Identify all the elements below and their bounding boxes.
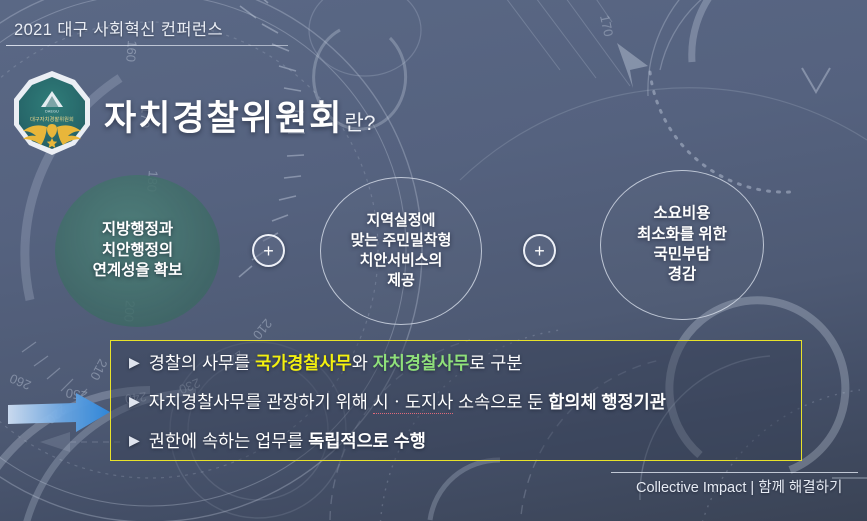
concept-line: 치안행정의 — [93, 241, 183, 261]
svg-text:170: 170 — [597, 14, 616, 38]
concept-line: 경감 — [637, 265, 727, 285]
bullet-marker-icon: ▶ — [129, 355, 140, 369]
bullet-segment-plain: 소속으로 둔 — [453, 392, 548, 412]
concept-line: 지역실정에 — [351, 211, 452, 231]
slide-canvas: 160 170 180 190 200 210 220 210 220 230 … — [0, 0, 867, 521]
concept-line: 소요비용 — [637, 204, 727, 224]
plus-connector-2: + — [523, 234, 556, 267]
bullet-item: ▶ 경찰의 사무를 국가경찰사무와 자치경찰사무로 구분 — [129, 350, 522, 375]
concept-line: 국민부담 — [637, 245, 727, 265]
bullet-segment-yellow: 국가경찰사무 — [255, 353, 352, 373]
daegu-police-committee-emblem-icon: DAEGU 대구자치경찰위원회 — [9, 69, 95, 157]
plus-connector-1: + — [252, 234, 285, 267]
bullet-item: ▶ 자치경찰사무를 관장하기 위해 시ㆍ도지사 소속으로 둔 합의체 행정기관 — [129, 389, 666, 414]
bullet-marker-icon: ▶ — [129, 433, 140, 447]
concept-line: 최소화를 위한 — [637, 225, 727, 245]
bullet-segment-plain: 권한에 속하는 업무를 — [149, 431, 309, 451]
concept-circle-2: 지역실정에맞는 주민밀착형치안서비스의제공 — [320, 177, 482, 325]
concept-circle-3-text: 소요비용최소화를 위한국민부담경감 — [637, 204, 727, 286]
bullet-segment-green: 자치경찰사무 — [373, 353, 470, 373]
logo-emblem: DAEGU 대구자치경찰위원회 — [9, 69, 95, 157]
bullet-item: ▶ 권한에 속하는 업무를 독립적으로 수행 — [129, 428, 426, 453]
bullet-segment-plain: 와 — [352, 353, 373, 373]
svg-text:210: 210 — [250, 316, 275, 342]
bullet-text-1: 자치경찰사무를 관장하기 위해 시ㆍ도지사 소속으로 둔 합의체 행정기관 — [149, 389, 666, 414]
concept-circle-1: 지방행정과치안행정의연계성을 확보 — [55, 175, 220, 327]
left-accent-arrow — [6, 391, 112, 435]
bullet-text-0: 경찰의 사무를 국가경찰사무와 자치경찰사무로 구분 — [149, 350, 523, 375]
concept-circle-1-text: 지방행정과치안행정의연계성을 확보 — [93, 220, 183, 281]
bullet-text-2: 권한에 속하는 업무를 독립적으로 수행 — [149, 428, 426, 453]
key-points-box: ▶ 경찰의 사무를 국가경찰사무와 자치경찰사무로 구분 ▶ 자치경찰사무를 관… — [110, 340, 802, 461]
page-title: 자치경찰위원회 란? — [104, 90, 375, 141]
bullet-segment-bold: 합의체 행정기관 — [548, 392, 666, 412]
svg-text:DAEGU: DAEGU — [45, 110, 59, 114]
header-divider — [6, 45, 288, 46]
page-title-main: 자치경찰위원회 — [104, 90, 343, 141]
concept-line: 지방행정과 — [93, 220, 183, 240]
footer-divider — [611, 472, 858, 473]
footer-branding: Collective Impact | 함께 해결하기 — [636, 478, 866, 499]
emblem-ring-text: 대구자치경찰위원회 — [30, 115, 74, 123]
plus-icon: + — [263, 242, 274, 260]
concept-circle-2-text: 지역실정에맞는 주민밀착형치안서비스의제공 — [351, 211, 452, 290]
bullet-segment-bold: 독립적으로 수행 — [308, 431, 426, 451]
concept-line: 맞는 주민밀착형 — [351, 231, 452, 251]
concept-line: 제공 — [351, 271, 452, 291]
concept-circle-3: 소요비용최소화를 위한국민부담경감 — [600, 170, 764, 320]
svg-text:260: 260 — [7, 371, 33, 393]
plus-icon: + — [534, 242, 545, 260]
svg-text:210: 210 — [87, 357, 110, 383]
concept-line: 연계성을 확보 — [93, 261, 183, 281]
bullet-segment-plain: 자치경찰사무를 관장하기 위해 — [149, 392, 373, 412]
conference-title: 2021 대구 사회혁신 컨퍼런스 — [14, 16, 223, 40]
bullet-segment-underline: 시ㆍ도지사 — [373, 392, 454, 414]
concept-line: 치안서비스의 — [351, 251, 452, 271]
bullet-segment-plain: 경찰의 사무를 — [149, 353, 255, 373]
page-title-suffix: 란? — [344, 107, 375, 137]
bullet-marker-icon: ▶ — [129, 394, 140, 408]
bullet-segment-plain: 로 구분 — [469, 353, 522, 373]
arrow-right-icon — [6, 391, 112, 435]
